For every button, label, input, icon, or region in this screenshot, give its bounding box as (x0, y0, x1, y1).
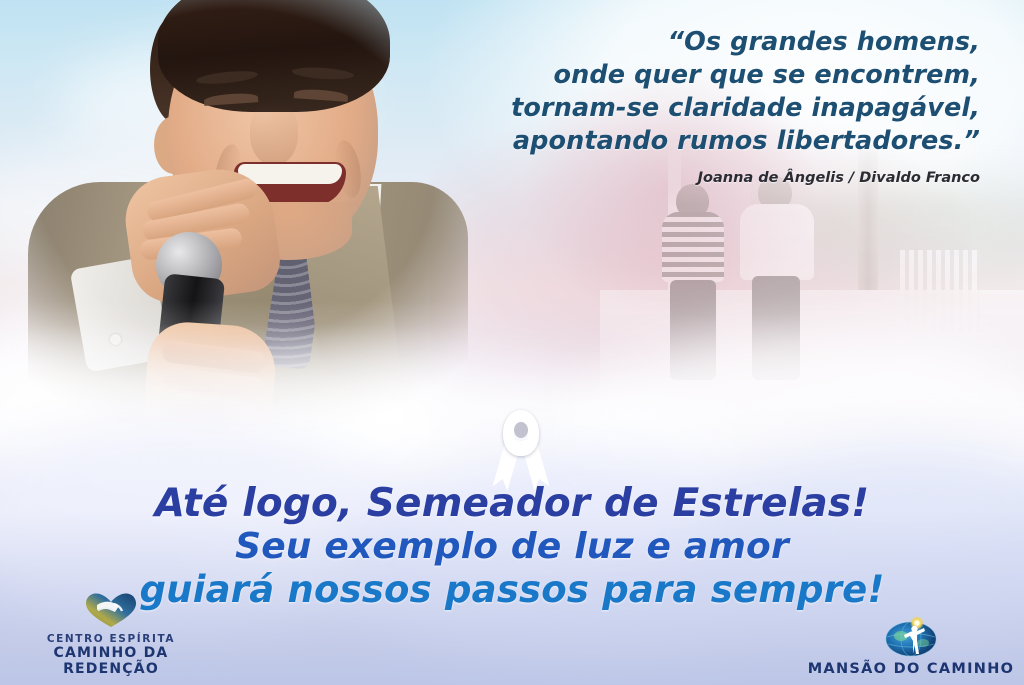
portrait-divaldo-franco (10, 0, 480, 474)
logo-left-line-1: CENTRO ESPÍRITA (6, 633, 216, 645)
quote-line-3: tornam-se claridade inapagável, (440, 92, 980, 125)
logo-right-line-1: MANSÃO DO CAMINHO (806, 661, 1016, 677)
quote-block: “Os grandes homens, onde quer que se enc… (440, 26, 980, 158)
quote-line-1: “Os grandes homens, (440, 26, 980, 59)
logo-centro-espirita: CENTRO ESPÍRITA CAMINHO DA REDENÇÃO (6, 592, 216, 677)
quote-attribution: Joanna de Ângelis / Divaldo Franco (440, 170, 980, 186)
portrait-nose (250, 104, 298, 166)
globe-figure-icon (883, 616, 939, 658)
heart-hands-icon (83, 592, 139, 630)
headline-line-1: Até logo, Semeador de Estrelas! (0, 482, 1024, 526)
portrait-hair (158, 0, 390, 112)
headline-line-2: Seu exemplo de luz e amor (0, 526, 1024, 568)
white-ribbon-icon (489, 410, 553, 488)
portrait-bottom-fade (10, 324, 480, 480)
logo-mansao-do-caminho: MANSÃO DO CAMINHO (806, 616, 1016, 677)
logo-left-line-2: CAMINHO DA REDENÇÃO (6, 645, 216, 677)
quote-line-4: apontando rumos libertadores.” (440, 125, 980, 158)
quote-line-2: onde quer que se encontrem, (440, 59, 980, 92)
memorial-poster: “Os grandes homens, onde quer que se enc… (0, 0, 1024, 685)
